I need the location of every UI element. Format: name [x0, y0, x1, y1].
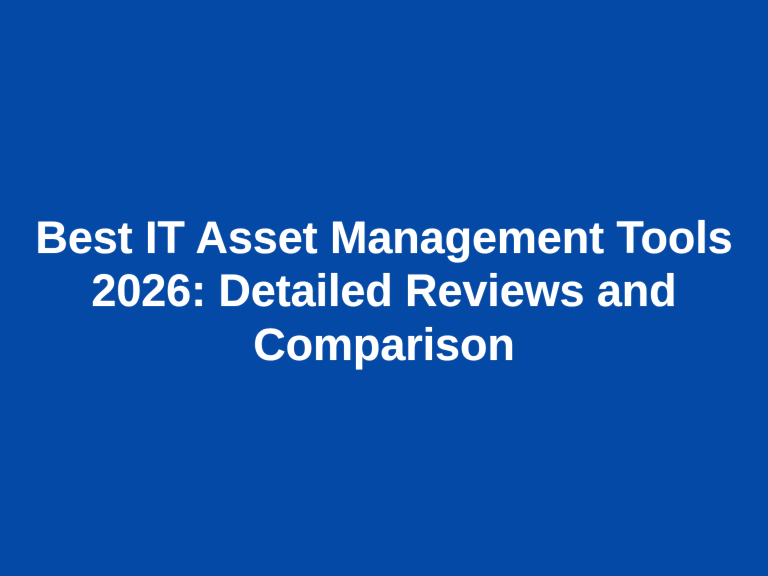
title-block: Best IT Asset Management Tools 2026: Det… [28, 211, 740, 372]
hero-banner: Best IT Asset Management Tools 2026: Det… [0, 0, 768, 576]
page-title: Best IT Asset Management Tools 2026: Det… [34, 211, 734, 372]
